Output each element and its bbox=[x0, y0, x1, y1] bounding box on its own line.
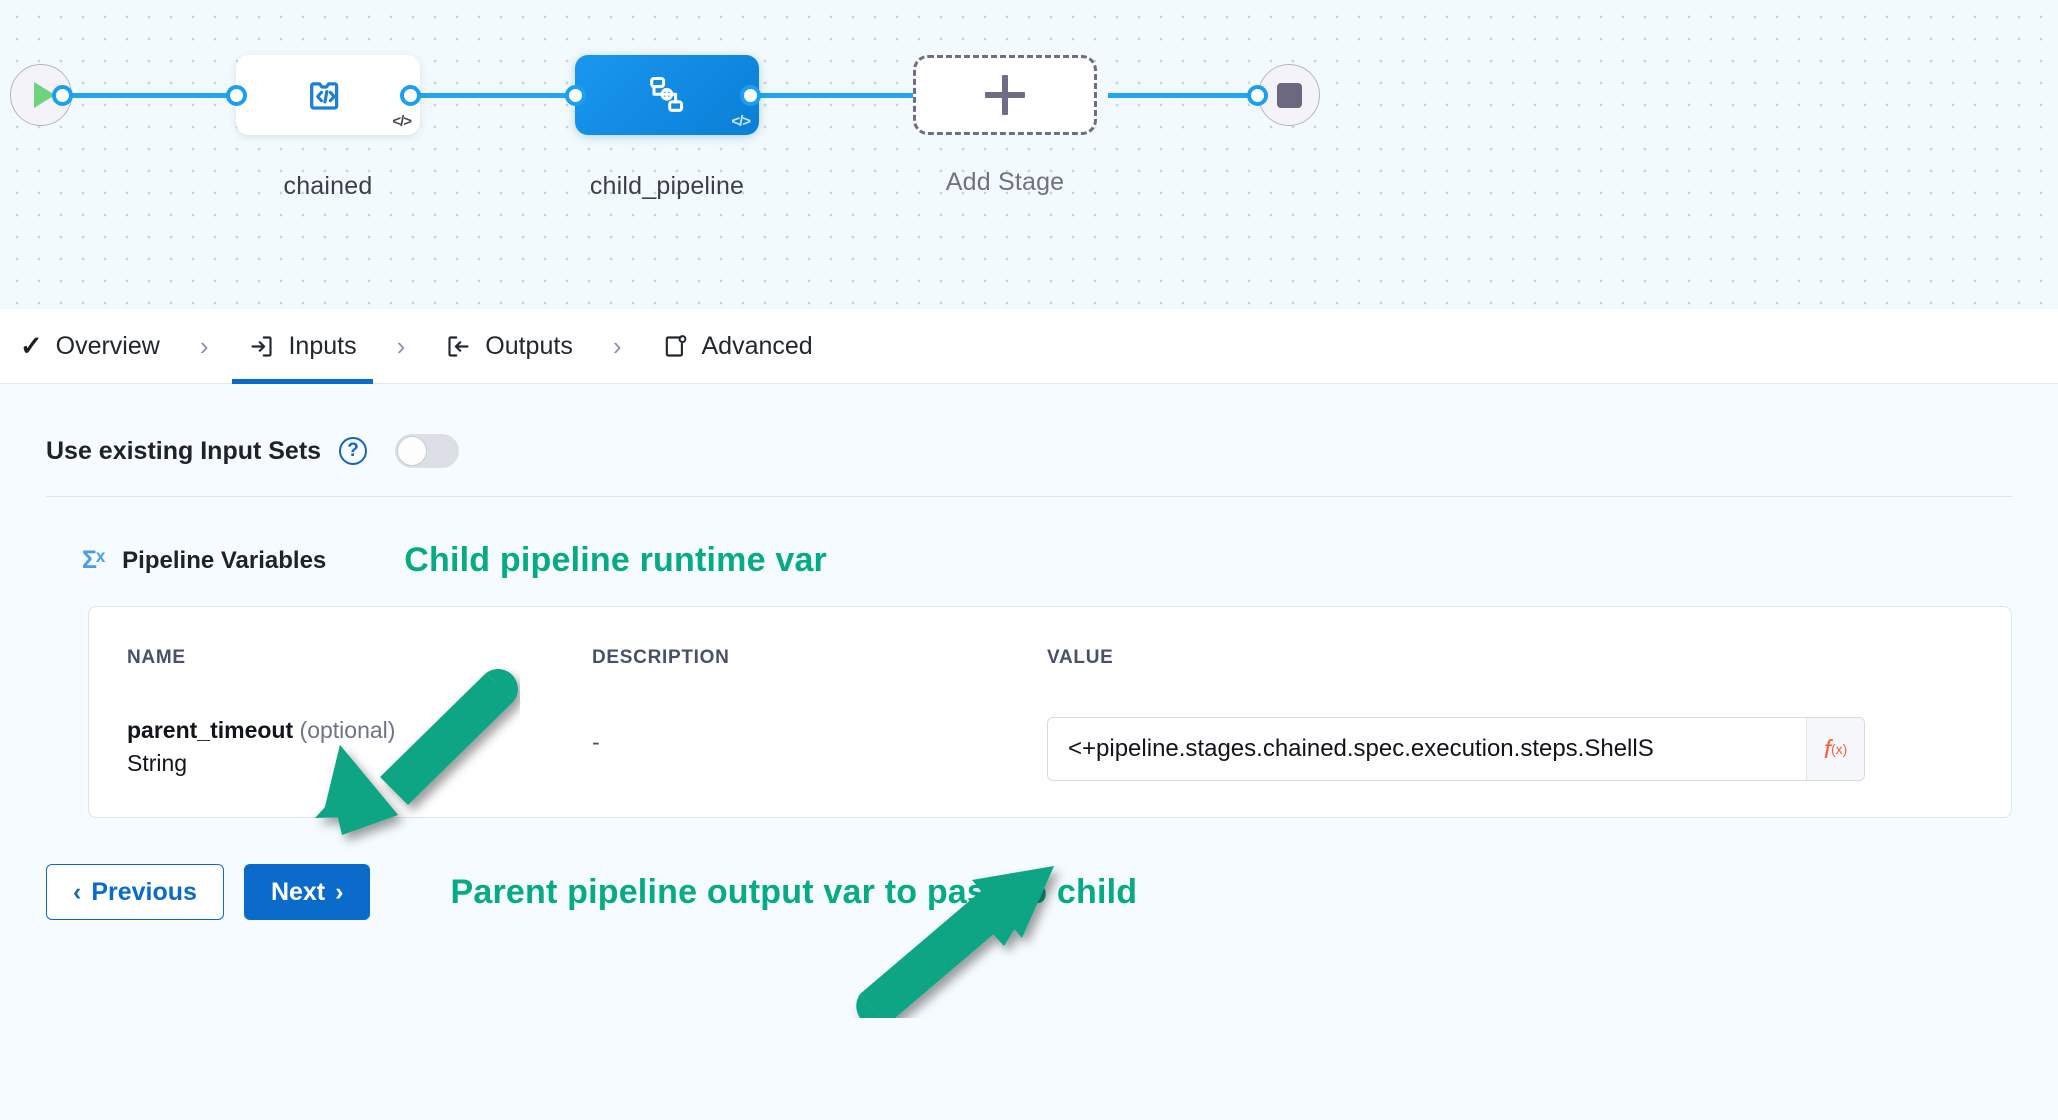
stage-config-tabbar[interactable]: ✓ Overview › Inputs › Outputs › bbox=[0, 309, 2058, 384]
variable-value-field[interactable]: f(x) bbox=[1047, 717, 1865, 781]
wire-child-to-add bbox=[745, 93, 925, 98]
add-stage-label: Add Stage bbox=[913, 168, 1097, 197]
advanced-gear-card-icon bbox=[662, 333, 689, 360]
question-mark-icon[interactable]: ? bbox=[339, 437, 367, 465]
variable-type: String bbox=[127, 750, 592, 777]
tab-inputs-label: Inputs bbox=[288, 332, 356, 361]
fx-label: f bbox=[1824, 734, 1831, 765]
outputs-arrow-icon bbox=[445, 333, 472, 360]
tab-inputs[interactable]: Inputs bbox=[232, 309, 372, 384]
stage-label-chained: chained bbox=[236, 172, 420, 201]
previous-chevron-icon: ‹ bbox=[73, 878, 81, 907]
tab-separator-icon: › bbox=[176, 331, 233, 362]
plus-icon bbox=[985, 75, 1025, 115]
annotation-child-runtime-var: Child pipeline runtime var bbox=[404, 541, 827, 580]
variable-name-cell: parent_timeout (optional) String bbox=[127, 717, 592, 777]
stage-label-child-pipeline: child_pipeline bbox=[575, 172, 759, 201]
wire-chained-to-child bbox=[405, 93, 590, 98]
port-child-out[interactable] bbox=[740, 85, 761, 106]
expression-fx-button[interactable]: f(x) bbox=[1806, 718, 1864, 780]
next-button[interactable]: Next › bbox=[244, 864, 371, 920]
port-end-in[interactable] bbox=[1247, 85, 1268, 106]
tab-outputs[interactable]: Outputs bbox=[429, 309, 589, 384]
pipeline-variables-card: NAME DESCRIPTION VALUE parent_timeout (o… bbox=[88, 606, 2012, 818]
use-existing-input-sets-row: Use existing Input Sets ? bbox=[0, 384, 2058, 468]
tab-advanced[interactable]: Advanced bbox=[646, 309, 829, 384]
previous-button-label: Previous bbox=[91, 878, 197, 907]
port-chained-out[interactable] bbox=[400, 85, 421, 106]
table-row: parent_timeout (optional) String - f(x) bbox=[127, 717, 1973, 781]
tab-separator-icon: › bbox=[589, 331, 646, 362]
next-button-label: Next bbox=[271, 878, 325, 907]
wire-add-to-end bbox=[1108, 93, 1268, 98]
variable-value-cell: f(x) bbox=[1047, 717, 1973, 781]
stage-node-child-pipeline[interactable]: </> bbox=[575, 55, 759, 135]
use-existing-input-sets-toggle[interactable] bbox=[395, 434, 459, 468]
column-header-name: NAME bbox=[127, 647, 592, 669]
next-chevron-icon: › bbox=[335, 878, 343, 907]
pipeline-variables-title: Pipeline Variables bbox=[122, 547, 326, 575]
fx-sub: (x) bbox=[1831, 741, 1847, 757]
tab-advanced-label: Advanced bbox=[702, 332, 813, 361]
variable-value-input[interactable] bbox=[1048, 718, 1806, 780]
variable-name: parent_timeout bbox=[127, 717, 293, 743]
port-child-in[interactable] bbox=[565, 85, 586, 106]
port-chained-in[interactable] bbox=[226, 85, 247, 106]
pipeline-variables-header: Σˣ Pipeline Variables Child pipeline run… bbox=[0, 497, 2058, 580]
variables-table-header: NAME DESCRIPTION VALUE bbox=[127, 647, 1973, 669]
inputs-arrow-icon bbox=[248, 333, 275, 360]
tab-overview[interactable]: ✓ Overview bbox=[4, 309, 176, 384]
pipeline-chain-icon bbox=[644, 72, 690, 118]
inputs-panel: Use existing Input Sets ? Σˣ Pipeline Va… bbox=[0, 384, 2058, 1120]
check-icon: ✓ bbox=[20, 331, 43, 362]
annotation-parent-output-var: Parent pipeline output var to pass to ch… bbox=[450, 873, 1137, 912]
variable-optional-tag: (optional) bbox=[300, 717, 396, 743]
column-header-value: VALUE bbox=[1047, 647, 1973, 669]
footer-button-row: ‹ Previous Next › Parent pipeline output… bbox=[0, 818, 2058, 920]
code-badge-icon: </> bbox=[731, 113, 750, 130]
sigma-variable-icon: Σˣ bbox=[82, 546, 104, 575]
column-header-description: DESCRIPTION bbox=[592, 647, 1047, 669]
pipeline-canvas[interactable]: </> chained </> child_pipeline Add Stage bbox=[0, 0, 2058, 309]
toggle-knob bbox=[397, 436, 427, 466]
use-existing-input-sets-label: Use existing Input Sets bbox=[46, 437, 321, 466]
custom-stage-code-icon bbox=[305, 72, 351, 118]
code-badge-icon: </> bbox=[392, 113, 411, 130]
previous-button[interactable]: ‹ Previous bbox=[46, 864, 224, 920]
tab-outputs-label: Outputs bbox=[485, 332, 573, 361]
tab-overview-label: Overview bbox=[56, 332, 160, 361]
port-start-out[interactable] bbox=[52, 85, 73, 106]
stop-square-icon bbox=[1277, 83, 1302, 108]
stage-node-chained[interactable]: </> bbox=[236, 55, 420, 135]
wire-start-to-chained bbox=[62, 93, 252, 98]
variable-description: - bbox=[592, 717, 1047, 756]
add-stage-node[interactable] bbox=[913, 55, 1097, 135]
tab-separator-icon: › bbox=[373, 331, 430, 362]
